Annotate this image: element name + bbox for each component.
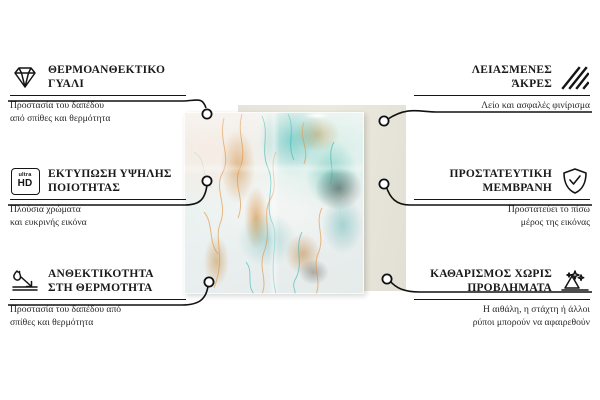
feature-divider xyxy=(414,95,590,96)
feature-header: ΑΝΘΕΚΤΙΚΟΤΗΤΑ ΣΤΗ ΘΕΡΜΟΤΗΤΑ xyxy=(10,266,186,296)
feature-header: ΛΕΙΑΣΜΕΝΕΣ ΆΚΡΕΣ xyxy=(414,62,590,92)
feature-title: ΑΝΘΕΚΤΙΚΟΤΗΤΑ ΣΤΗ ΘΕΡΜΟΤΗΤΑ xyxy=(48,267,186,295)
feature-smoothed-edges: ΛΕΙΑΣΜΕΝΕΣ ΆΚΡΕΣ Λείο και ασφαλές φινίρι… xyxy=(414,62,590,113)
ultra-hd-icon: ultra HD xyxy=(10,166,40,196)
feature-description: Η αιθάλη, η στάχτη ή άλλοι ρύποι μπορούν… xyxy=(414,304,590,330)
ultra-hd-icon-bottom-label: HD xyxy=(18,179,33,189)
feature-divider xyxy=(414,199,590,200)
shield-check-icon xyxy=(560,166,590,196)
feature-protective-membrane: ΠΡΟΣΤΑΤΕΥΤΙΚΗ ΜΕΜΒΡΑΝΗ Προστατεύει το πί… xyxy=(414,166,590,230)
feature-divider xyxy=(414,299,590,300)
feature-description: Προστασία του δαπέδου από σπίθες και θερ… xyxy=(10,100,186,126)
feature-header: ultra HD ΕΚΤΥΠΩΣΗ ΥΨΗΛΗΣ ΠΟΙΟΤΗΤΑΣ xyxy=(10,166,186,196)
feature-description: Λείο και ασφαλές φινίρισμα xyxy=(414,100,590,113)
feature-title: ΚΑΘΑΡΙΣΜΟΣ ΧΩΡΙΣ ΠΡΟΒΛΗΜΑΤΑ xyxy=(414,267,552,295)
feature-description: Προστασία του δαπέδου από σπίθες και θερ… xyxy=(10,304,186,330)
feature-divider xyxy=(10,299,186,300)
feature-high-quality-print: ultra HD ΕΚΤΥΠΩΣΗ ΥΨΗΛΗΣ ΠΟΙΟΤΗΤΑΣ Πλούσ… xyxy=(10,166,186,230)
feature-description: Προστατεύει το πίσω μέρος της εικόνας xyxy=(414,204,590,230)
product-feature-infographic: ΘΕΡΜΟΑΝΘΕΚΤΙΚΟ ΓΥΑΛΙ Προστασία του δαπέδ… xyxy=(0,0,600,400)
feature-divider xyxy=(10,95,186,96)
feature-heat-durability: ΑΝΘΕΚΤΙΚΟΤΗΤΑ ΣΤΗ ΘΕΡΜΟΤΗΤΑ Προστασία το… xyxy=(10,266,186,330)
feature-title: ΠΡΟΣΤΑΤΕΥΤΙΚΗ ΜΕΜΒΡΑΝΗ xyxy=(414,167,552,195)
flame-deflect-icon xyxy=(10,266,40,296)
feature-title: ΕΚΤΥΠΩΣΗ ΥΨΗΛΗΣ ΠΟΙΟΤΗΤΑΣ xyxy=(48,167,186,195)
feature-header: ΘΕΡΜΟΑΝΘΕΚΤΙΚΟ ΓΥΑΛΙ xyxy=(10,62,186,92)
feature-header: ΚΑΘΑΡΙΣΜΟΣ ΧΩΡΙΣ ΠΡΟΒΛΗΜΑΤΑ xyxy=(414,266,590,296)
product-glass-panel xyxy=(184,112,364,294)
feature-header: ΠΡΟΣΤΑΤΕΥΤΙΚΗ ΜΕΜΒΡΑΝΗ xyxy=(414,166,590,196)
sparkle-wipe-icon xyxy=(560,266,590,296)
feature-easy-cleaning: ΚΑΘΑΡΙΣΜΟΣ ΧΩΡΙΣ ΠΡΟΒΛΗΜΑΤΑ Η αιθάλη, η … xyxy=(414,266,590,330)
diamond-icon xyxy=(10,62,40,92)
feature-title: ΘΕΡΜΟΑΝΘΕΚΤΙΚΟ ΓΥΑΛΙ xyxy=(48,63,186,91)
diagonal-lines-icon xyxy=(560,62,590,92)
feature-heat-resistant-glass: ΘΕΡΜΟΑΝΘΕΚΤΙΚΟ ΓΥΑΛΙ Προστασία του δαπέδ… xyxy=(10,62,186,126)
product-image xyxy=(184,108,406,294)
feature-title: ΛΕΙΑΣΜΕΝΕΣ ΆΚΡΕΣ xyxy=(414,63,552,91)
feature-divider xyxy=(10,199,186,200)
ink-vein-lines xyxy=(184,112,364,294)
feature-description: Πλούσια χρώματα και ευκρινής εικόνα xyxy=(10,204,186,230)
